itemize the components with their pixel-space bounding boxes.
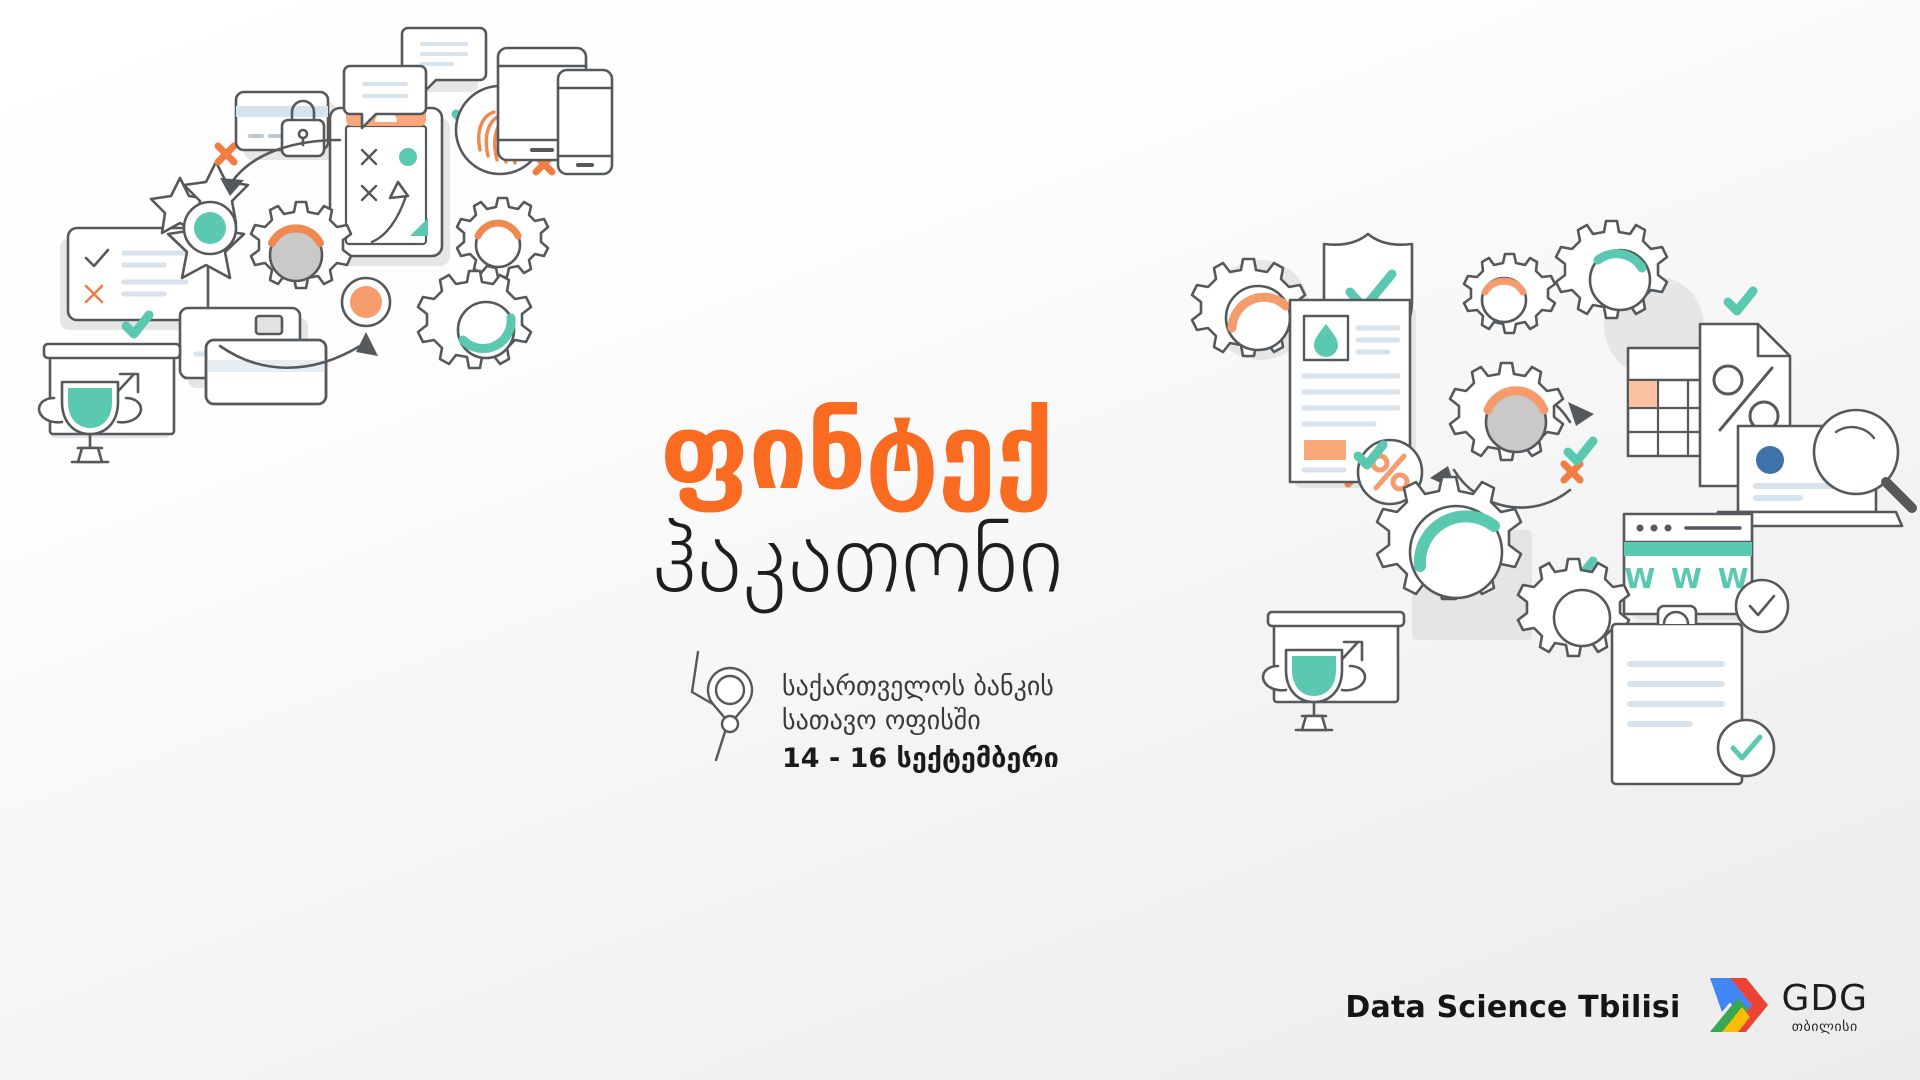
magnifier-icon (1814, 410, 1912, 508)
gear-icon (418, 271, 531, 368)
gear-icon (1450, 363, 1563, 460)
partner-name: Data Science Tbilisi (1345, 990, 1680, 1025)
cross-mark-icon (218, 146, 234, 162)
check-mark-icon (126, 315, 149, 334)
trophy-icon (1263, 650, 1365, 730)
cross-mark-icon (1348, 468, 1364, 484)
svg-text:W W W: W W W (1624, 562, 1751, 595)
presentation-chart-icon (44, 344, 180, 434)
document-droplet-icon (1290, 300, 1410, 482)
gear-icon (251, 202, 351, 288)
cross-mark-icon (536, 156, 552, 172)
phone-icon (558, 70, 612, 174)
gdg-chevron-icon (1706, 976, 1768, 1038)
map-pin-icon (690, 648, 766, 768)
poster-canvas: W W W (0, 0, 1920, 1080)
venue-line-2: სათავო ოფისში (782, 704, 1059, 738)
star-icon (168, 206, 244, 278)
browser-www-icon: W W W (1624, 514, 1752, 614)
check-circle-icon (1736, 580, 1788, 632)
star-icon (184, 162, 248, 223)
gear-icon (1518, 559, 1629, 656)
venue-block: საქართველოს ბანკის სათავო ოფისში 14 - 16… (690, 648, 1059, 776)
gdg-logo[interactable]: GDG თბილისი (1706, 976, 1868, 1038)
circular-arrows-icon (1430, 384, 1594, 507)
clipboard-strategy-icon (330, 84, 442, 256)
circle-dot-icon (342, 278, 390, 326)
fingerprint-icon (456, 86, 544, 174)
venue-date: 14 - 16 სექტემბერი (782, 741, 1059, 777)
gear-icon (1377, 477, 1521, 599)
clipboard-icon (1612, 606, 1742, 784)
hero-text-block: ფინტექ ჰაკათონი (660, 400, 1280, 610)
star-icon (151, 178, 209, 233)
check-mark-icon (1568, 441, 1593, 461)
percent-document-icon (1700, 324, 1790, 486)
chat-bubble-icon (402, 28, 486, 94)
venue-line-1: საქართველოს ბანკის (782, 670, 1059, 704)
credit-card-icon (180, 308, 326, 404)
curved-arrow-icon (220, 332, 378, 368)
cross-mark-icon (186, 360, 202, 376)
page-title-primary: ფინტექ (660, 400, 1280, 505)
gear-icon (1192, 259, 1305, 356)
shield-check-icon (1324, 234, 1412, 362)
gdg-city-label: თბილისი (1792, 1020, 1858, 1034)
cross-mark-icon (1324, 332, 1340, 348)
check-mark-icon (1358, 445, 1383, 465)
gdg-wordmark: GDG (1781, 981, 1868, 1017)
tablet-icon (498, 48, 586, 160)
presentation-chart-icon (1268, 612, 1404, 702)
footer-logos: Data Science Tbilisi GDG თბილისი (1345, 976, 1868, 1038)
circle-dot-icon (184, 202, 236, 254)
trophy-icon (39, 382, 141, 462)
cross-mark-icon (1564, 464, 1580, 480)
gear-icon (1464, 254, 1555, 333)
curved-arrow-icon (220, 140, 340, 196)
page-title-secondary: ჰაკათონი (652, 509, 1280, 610)
gear-icon (1556, 221, 1667, 318)
check-mark-icon (456, 104, 478, 122)
percent-badge-icon (1358, 440, 1422, 504)
check-mark-icon (1568, 561, 1593, 581)
check-circle-icon (1718, 720, 1774, 776)
laptop-magnifier-icon (1712, 426, 1902, 526)
left-illustration-group (20, 10, 740, 594)
checklist-card-icon (68, 228, 208, 320)
calculator-icon (1628, 348, 1720, 456)
gear-icon (457, 198, 548, 277)
right-illustration-group: W W W (1200, 220, 1920, 784)
credit-card-lock-icon (236, 92, 328, 156)
check-mark-icon (1728, 291, 1753, 311)
chat-bubble-icon (344, 66, 426, 128)
